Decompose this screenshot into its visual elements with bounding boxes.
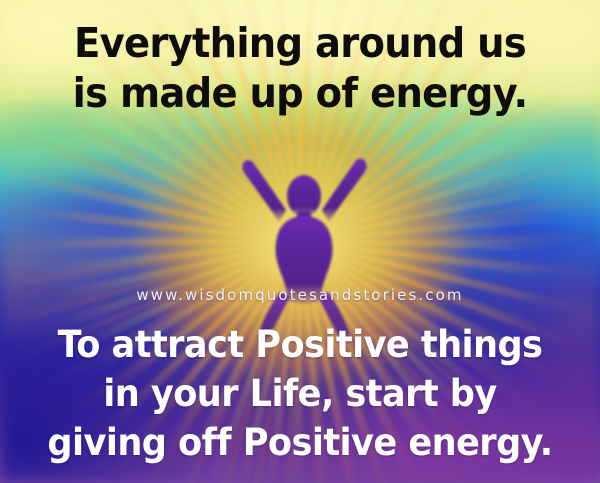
top-quote-line-1: Everything around us: [18, 18, 582, 68]
bottom-quote: To attract Positive things in your Life,…: [0, 320, 600, 467]
person-silhouette-icon: [224, 150, 384, 345]
bottom-quote-line-2: in your Life, start by: [15, 369, 585, 418]
quote-poster: Everything around us is made up of energ…: [0, 0, 600, 483]
top-quote: Everything around us is made up of energ…: [0, 18, 600, 118]
bottom-quote-line-3: giving off Positive energy.: [15, 418, 585, 467]
watermark-url: www.wisdomquotesandstories.com: [0, 286, 600, 304]
bottom-quote-line-1: To attract Positive things: [15, 320, 585, 369]
top-quote-line-2: is made up of energy.: [18, 68, 582, 118]
